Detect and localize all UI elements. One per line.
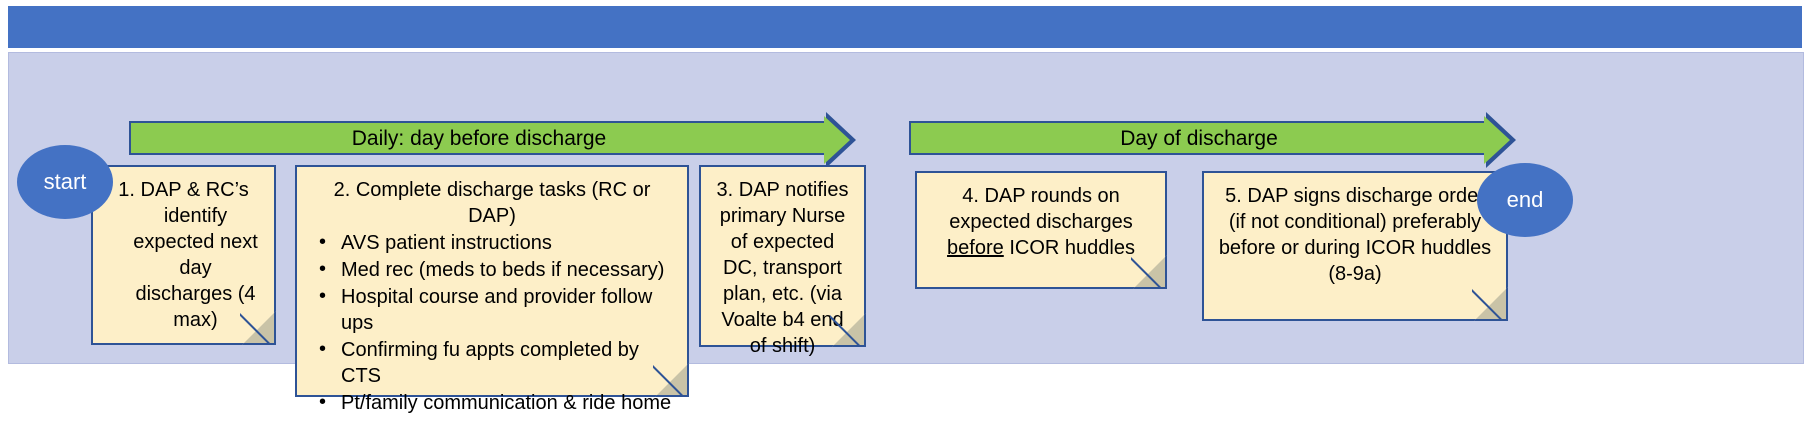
arrow-head-fill-icon — [824, 116, 850, 164]
step-5-heading: 5. DAP signs discharge order (if not con… — [1216, 183, 1494, 287]
list-item: Pt/family communication & ride home — [315, 390, 675, 416]
slide-canvas: Daily: day before discharge Day of disch… — [0, 0, 1810, 421]
step-4-heading-part2: ICOR huddles — [1004, 237, 1135, 259]
process-step-2: 2. Complete discharge tasks (RC or DAP) … — [295, 165, 689, 397]
start-label: start — [44, 169, 87, 195]
step-4-heading-part1: 4. DAP rounds on expected discharges — [949, 185, 1132, 233]
folded-corner-edge-icon — [1131, 253, 1167, 289]
step-1-heading: 1. DAP & RC’s identify expected next day… — [105, 177, 262, 333]
phase-arrow-day-before-discharge: Daily: day before discharge — [129, 121, 829, 155]
list-item: Hospital course and provider follow ups — [315, 284, 675, 336]
folded-corner-edge-icon — [240, 309, 276, 345]
folded-corner-edge-icon — [653, 361, 689, 397]
folded-corner-edge-icon — [830, 311, 866, 347]
list-item: DC next day labs if not needed — [315, 417, 675, 421]
phase-label: Daily: day before discharge — [352, 128, 606, 149]
step-4-heading: 4. DAP rounds on expected discharges bef… — [929, 183, 1153, 261]
phase-label: Day of discharge — [1120, 128, 1278, 149]
end-terminator: end — [1477, 163, 1573, 237]
process-step-1: 1. DAP & RC’s identify expected next day… — [91, 165, 276, 345]
diagram-canvas: Daily: day before discharge Day of disch… — [8, 52, 1804, 364]
end-label: end — [1507, 187, 1544, 213]
step-2-heading: 2. Complete discharge tasks (RC or DAP) — [309, 177, 675, 229]
folded-corner-edge-icon — [1472, 285, 1508, 321]
step-2-bullet-list: AVS patient instructions Med rec (meds t… — [309, 230, 675, 421]
step-4-heading-emphasis: before — [947, 237, 1004, 259]
process-step-5: 5. DAP signs discharge order (if not con… — [1202, 171, 1508, 321]
arrow-head-fill-icon — [1484, 116, 1510, 164]
list-item: Confirming fu appts completed by CTS — [315, 337, 675, 389]
phase-arrow-day-of-discharge: Day of discharge — [909, 121, 1489, 155]
process-step-3: 3. DAP notifies primary Nurse of expecte… — [699, 165, 866, 347]
title-bar — [8, 6, 1802, 48]
start-terminator: start — [17, 145, 113, 219]
list-item: AVS patient instructions — [315, 230, 675, 256]
list-item: Med rec (meds to beds if necessary) — [315, 257, 675, 283]
process-step-4: 4. DAP rounds on expected discharges bef… — [915, 171, 1167, 289]
